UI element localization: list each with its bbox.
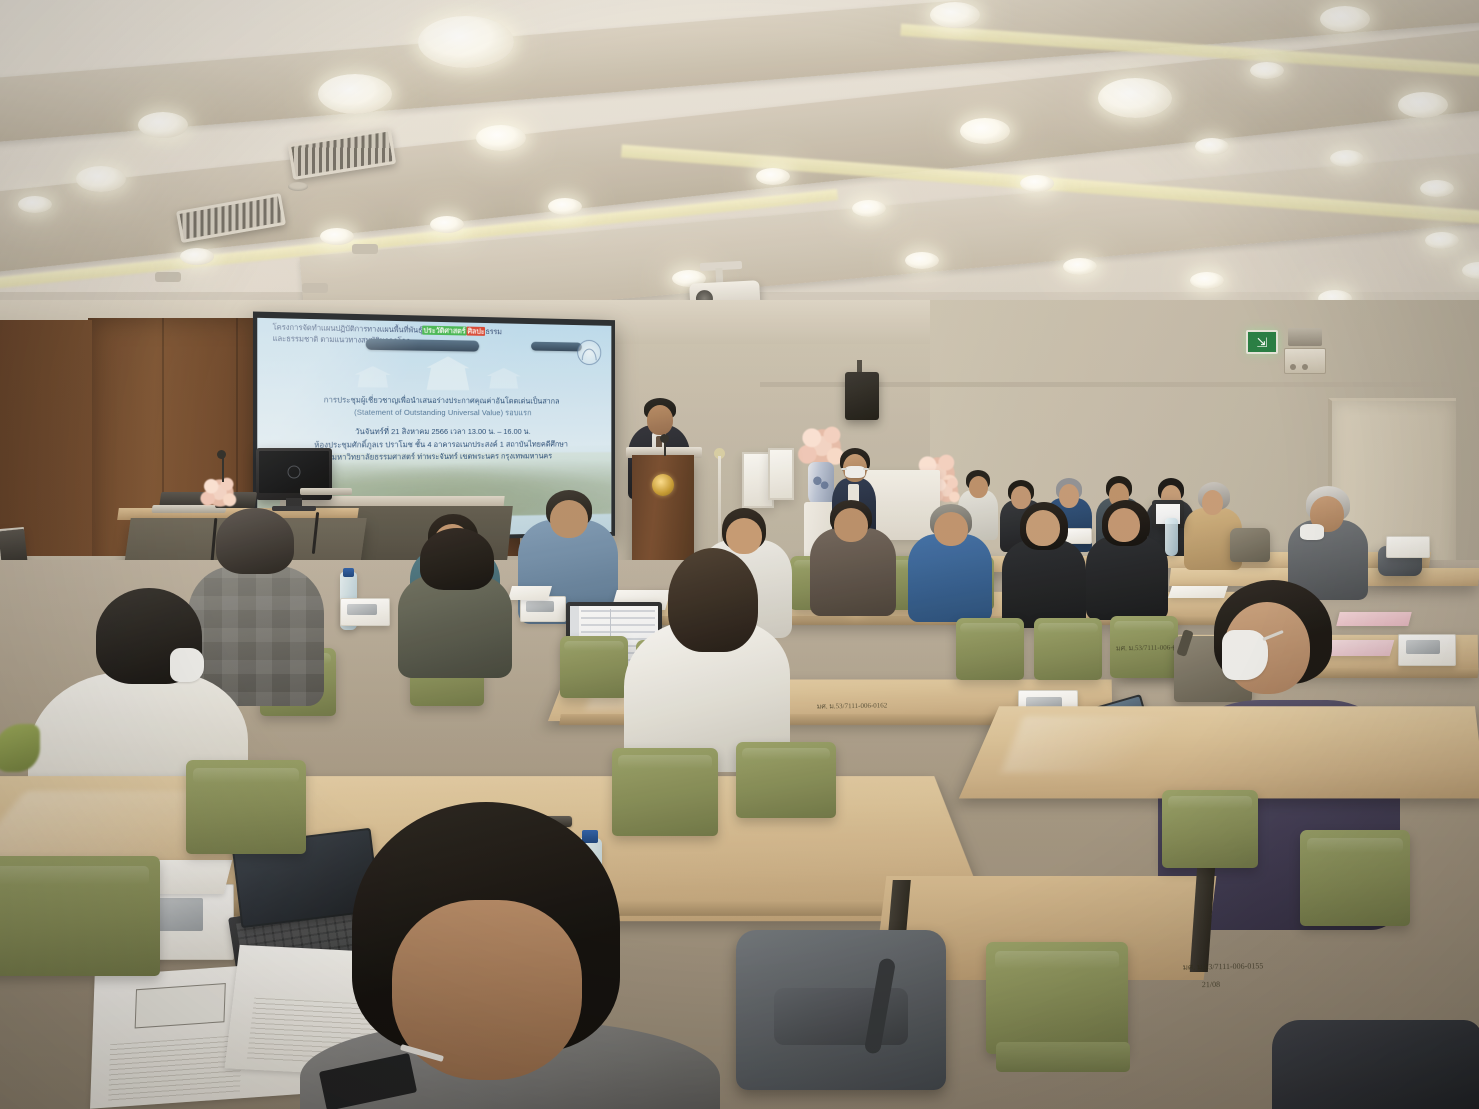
desk-microphone-icon <box>217 450 226 459</box>
chair[interactable] <box>186 760 306 854</box>
snack-box-lid <box>526 601 553 612</box>
podium-emblem-icon <box>652 474 674 496</box>
document-figure-box <box>135 983 226 1029</box>
ceiling-downlight <box>930 2 980 28</box>
ceiling-downlight <box>138 112 188 138</box>
emergency-light-panel <box>1284 348 1326 374</box>
slide-venue-line1: ห้องประชุมศักดิ์ภูลเร ปราโมช ชั้น 4 อาคา… <box>314 439 568 449</box>
microphone-icon <box>660 434 669 443</box>
flower-vase <box>808 462 834 506</box>
face-mask <box>845 466 865 478</box>
meeting-room-photo: ⇲ โครงการจัดทำแผนปฏิบัติการทางแผนพื้นที่… <box>0 0 1479 1109</box>
face-mask <box>1300 524 1324 540</box>
ceiling-downlight <box>1020 175 1054 192</box>
ceiling-downlight <box>1420 180 1454 197</box>
slide-header-line1-post: ธรรม <box>485 327 501 336</box>
smoke-detector <box>288 182 308 191</box>
attendee-head <box>550 500 588 538</box>
foreground-bag <box>1272 1020 1479 1109</box>
attendee-head <box>969 476 988 498</box>
emergency-exit-sign: ⇲ <box>1246 330 1278 354</box>
wall-speaker <box>845 372 879 420</box>
snack-box-lid <box>1406 640 1441 653</box>
ceiling-downlight <box>756 168 790 185</box>
meeting-table <box>959 706 1479 798</box>
slide-header-highlight-red: ศิลปะ <box>466 327 485 336</box>
ceiling-downlight <box>180 248 214 265</box>
slide-header-line1-pre: โครงการจัดทำแผนปฏิบัติการทางแผนพื้นที่พั… <box>272 323 422 335</box>
attendee-head <box>934 512 968 546</box>
attendee-hair <box>420 528 494 590</box>
ceiling-downlight <box>476 125 526 151</box>
attendee-head <box>1026 510 1060 546</box>
ceiling-downlight <box>430 216 464 233</box>
snack-box-lid <box>347 604 377 615</box>
bottle-cap <box>343 568 354 577</box>
slide-header-highlight-green: ประวัติศาสตร์ <box>422 326 466 336</box>
chair[interactable] <box>736 742 836 818</box>
ceiling-speaker <box>155 272 181 282</box>
ceiling-downlight <box>1098 78 1172 118</box>
shoulder-bag <box>1230 528 1270 562</box>
slide-banner-bar <box>531 342 581 352</box>
flower-arrangement <box>198 476 242 510</box>
ceiling-speaker <box>352 244 378 254</box>
bottle-cap <box>582 830 598 843</box>
chair[interactable] <box>612 748 718 836</box>
snack-box <box>340 598 390 626</box>
colored-document <box>1336 612 1411 626</box>
monitor-base <box>272 506 316 511</box>
slide-title-th: การประชุมผู้เชี่ยวชาญเพื่อนำเสนอร่างประก… <box>324 395 560 405</box>
ceiling-speaker <box>302 283 328 293</box>
attendee-head <box>1202 490 1223 515</box>
ceiling-downlight <box>418 16 514 68</box>
chair-seat <box>996 1042 1130 1072</box>
ceiling-downlight <box>548 198 582 215</box>
chair[interactable] <box>0 856 160 976</box>
ceiling-downlight <box>1190 272 1224 289</box>
ceiling-downlight <box>1425 232 1459 249</box>
ceiling-downlight <box>1330 150 1364 167</box>
ceiling-downlight <box>1195 138 1229 155</box>
chair[interactable] <box>560 636 628 698</box>
ceiling-downlight <box>852 200 886 217</box>
ceiling-downlight <box>1320 6 1370 32</box>
mask-strap <box>841 468 847 470</box>
ceiling-downlight <box>76 166 126 192</box>
chair[interactable] <box>986 942 1128 1054</box>
attendee-torso <box>1002 540 1086 628</box>
slide-venue-line2: มหาวิทยาลัยธรรมศาสตร์ ท่าพระจันทร์ เขตพร… <box>332 451 552 461</box>
document-sheet <box>1168 586 1228 598</box>
attendee-hair <box>668 548 758 652</box>
ceiling-downlight <box>1063 258 1097 275</box>
water-bottle <box>1165 518 1178 556</box>
ceiling-downlight <box>18 196 52 213</box>
attendee-torso <box>1086 536 1168 620</box>
chair[interactable] <box>1034 618 1102 680</box>
chair[interactable] <box>956 618 1024 680</box>
ceiling-downlight <box>1250 62 1284 79</box>
slide-date-line: วันจันทร์ที่ 21 สิงหาคม 2566 เวลา 13.00 … <box>355 427 530 436</box>
attendee-head <box>726 518 762 554</box>
mask-strap <box>863 468 869 470</box>
backpack <box>736 930 946 1090</box>
slide-banner-bar <box>366 339 480 352</box>
emergency-light <box>1288 328 1322 346</box>
attendee-head <box>1108 508 1140 542</box>
face-mask <box>1222 630 1268 680</box>
speaker-head <box>647 405 673 435</box>
av-control-panel <box>300 488 352 495</box>
display-board <box>768 448 794 500</box>
desk-microphone-stand <box>222 456 224 482</box>
face-mask <box>170 648 204 682</box>
ceiling-downlight <box>905 252 939 269</box>
chair[interactable] <box>1162 790 1258 868</box>
attendee-head <box>834 508 868 542</box>
tissue-box <box>1386 536 1430 558</box>
world-heritage-emblem-icon <box>577 340 601 366</box>
slide-title-en: (Statement of Outstanding Universal Valu… <box>354 408 532 418</box>
ceiling-downlight <box>320 228 354 245</box>
attendee-torso <box>908 534 992 622</box>
attendee-head <box>1059 484 1079 508</box>
ceiling-downlight <box>1398 92 1448 118</box>
attendee-head <box>1011 486 1031 509</box>
attendee-hair <box>216 508 294 574</box>
document-text-lines <box>108 1035 242 1103</box>
ceiling-downlight <box>960 118 1010 144</box>
podium <box>632 455 694 573</box>
chair[interactable] <box>1300 830 1410 926</box>
dell-logo-icon <box>288 465 301 478</box>
snack-box <box>1398 634 1456 666</box>
chair-asset-tag-date: 21/08 <box>1176 979 1246 990</box>
document-sheet <box>508 586 552 600</box>
ceiling-downlight <box>318 74 392 114</box>
